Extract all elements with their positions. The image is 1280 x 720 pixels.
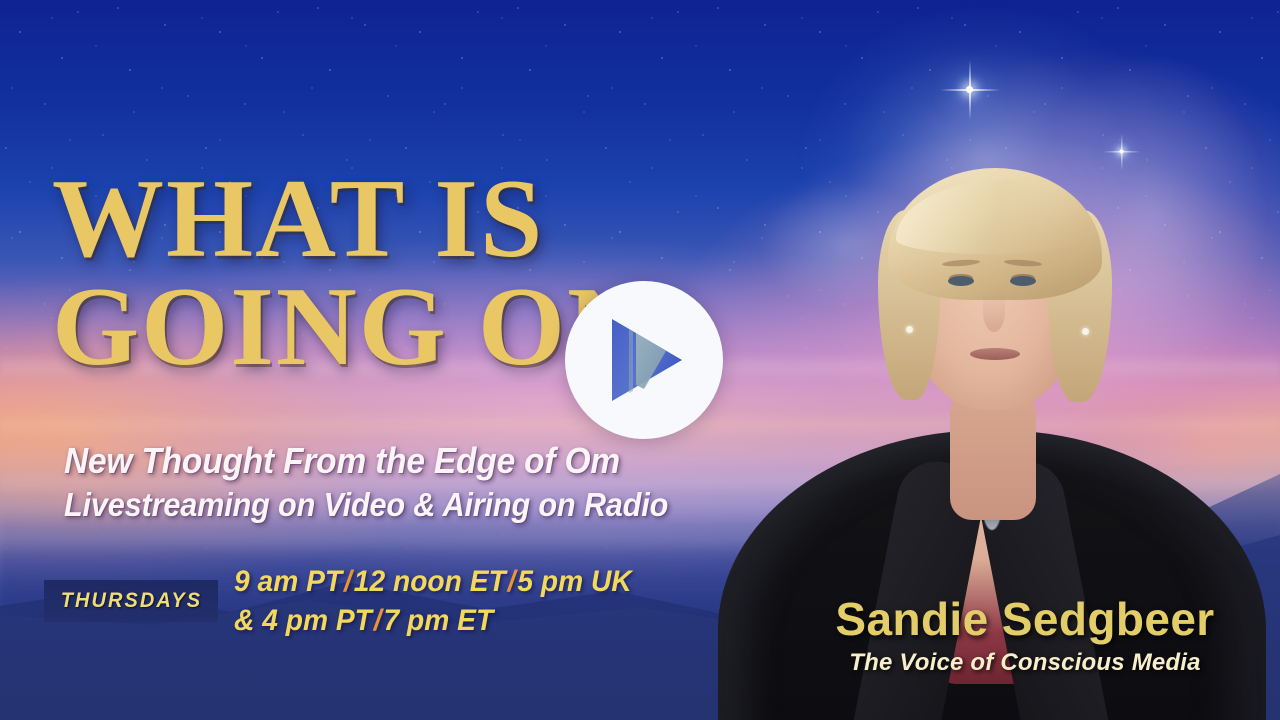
host-name-block: Sandie Sedgbeer The Voice of Conscious M… (790, 596, 1260, 675)
earring-left (906, 326, 913, 333)
play-button[interactable] (565, 281, 723, 439)
time-part: 9 am PT (234, 565, 342, 598)
schedule-time-line-2: & 4 pm PT/7 pm ET (234, 601, 760, 640)
video-thumbnail-stage: WHAT IS GOING ON New Thought From the Ed… (0, 0, 1280, 720)
earring-right (1082, 328, 1089, 335)
tagline-primary: New Thought From the Edge of Om (64, 440, 752, 481)
eye-left (948, 276, 974, 286)
time-separator-icon: / (342, 565, 354, 598)
time-separator-icon: / (506, 565, 518, 598)
show-title-line-1: WHAT IS (52, 166, 812, 272)
host-name-tagline: The Voice of Conscious Media (790, 651, 1260, 675)
time-part: 12 noon ET (354, 565, 506, 598)
play-triangle-icon (610, 317, 684, 403)
time-separator-icon: / (372, 604, 384, 637)
time-part: & 4 pm PT (234, 604, 372, 637)
schedule-day-label: THURSDAYS (60, 589, 201, 613)
mouth (970, 348, 1020, 360)
host-name: Sandie Sedgbeer (790, 596, 1260, 642)
time-part: 7 pm ET (384, 604, 494, 637)
tagline-secondary: Livestreaming on Video & Airing on Radio (64, 485, 752, 525)
schedule-time-line-1: 9 am PT/12 noon ET/5 pm UK (234, 562, 760, 601)
schedule-times: 9 am PT/12 noon ET/5 pm UK & 4 pm PT/7 p… (234, 562, 794, 640)
eye-right (1010, 276, 1036, 286)
time-part: 5 pm UK (517, 565, 631, 598)
nose (983, 292, 1005, 332)
schedule-day-badge: THURSDAYS (44, 580, 218, 622)
show-taglines: New Thought From the Edge of Om Livestre… (64, 440, 804, 525)
